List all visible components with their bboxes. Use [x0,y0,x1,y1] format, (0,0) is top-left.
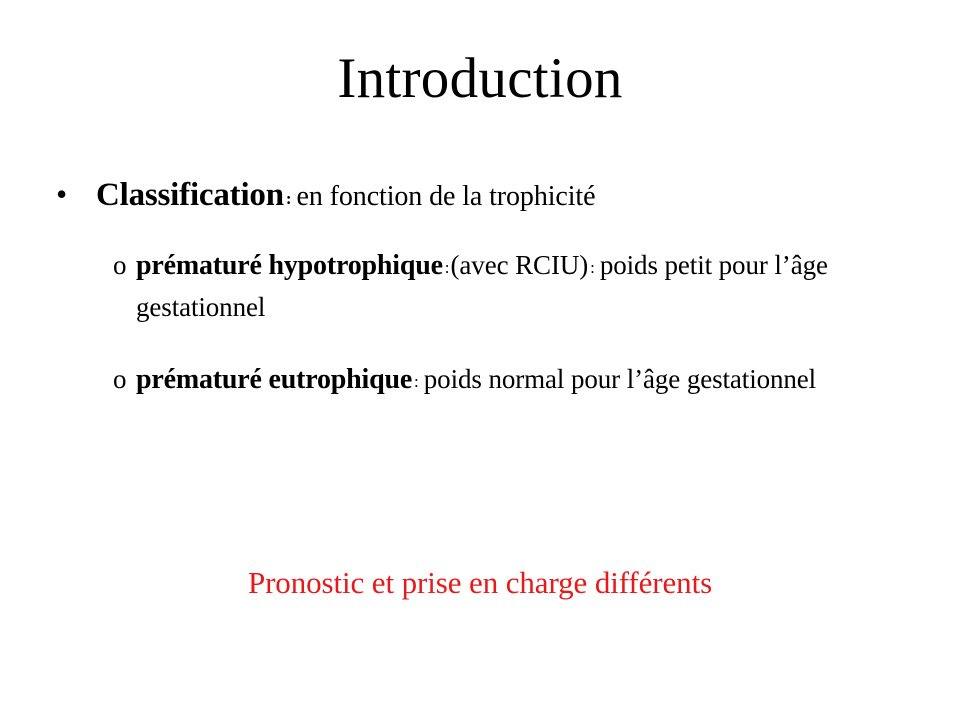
bullet-level1-rest: en fonction de la trophicité [297,181,596,212]
bullet-level1-term: Classification [96,177,284,213]
slide: Introduction • Classification: en foncti… [0,0,960,720]
conclusion-text: Pronostic et prise en charge différents [0,565,960,601]
bullet-level2-separator: : [412,372,420,391]
bullet-level2-term: prématuré eutrophique [136,364,412,395]
page-title: Introduction [0,48,960,111]
bullet-level1-separator: : [284,189,293,208]
bullet-level2-separator: : [443,258,451,277]
bullet-level2-paren: (avec RCIU) [451,250,589,280]
bullet-level1: • Classification: en fonction de la trop… [0,176,960,215]
bullet-level2-eutrophique: o prématuré eutrophique: poids normal po… [0,359,960,402]
bullet-circle-icon: o [113,245,127,286]
slide-body: • Classification: en fonction de la trop… [0,176,960,401]
bullet-dot-icon: • [56,176,67,214]
bullet-circle-icon: o [113,359,127,400]
bullet-level2-term: prématuré hypotrophique [136,250,443,281]
bullet-level2-hypotrophique: o prématuré hypotrophique:(avec RCIU): p… [0,245,960,329]
bullet-level2-separator-2: : [588,258,596,277]
bullet-level2-rest: poids normal pour l’âge gestationnel [424,364,816,394]
